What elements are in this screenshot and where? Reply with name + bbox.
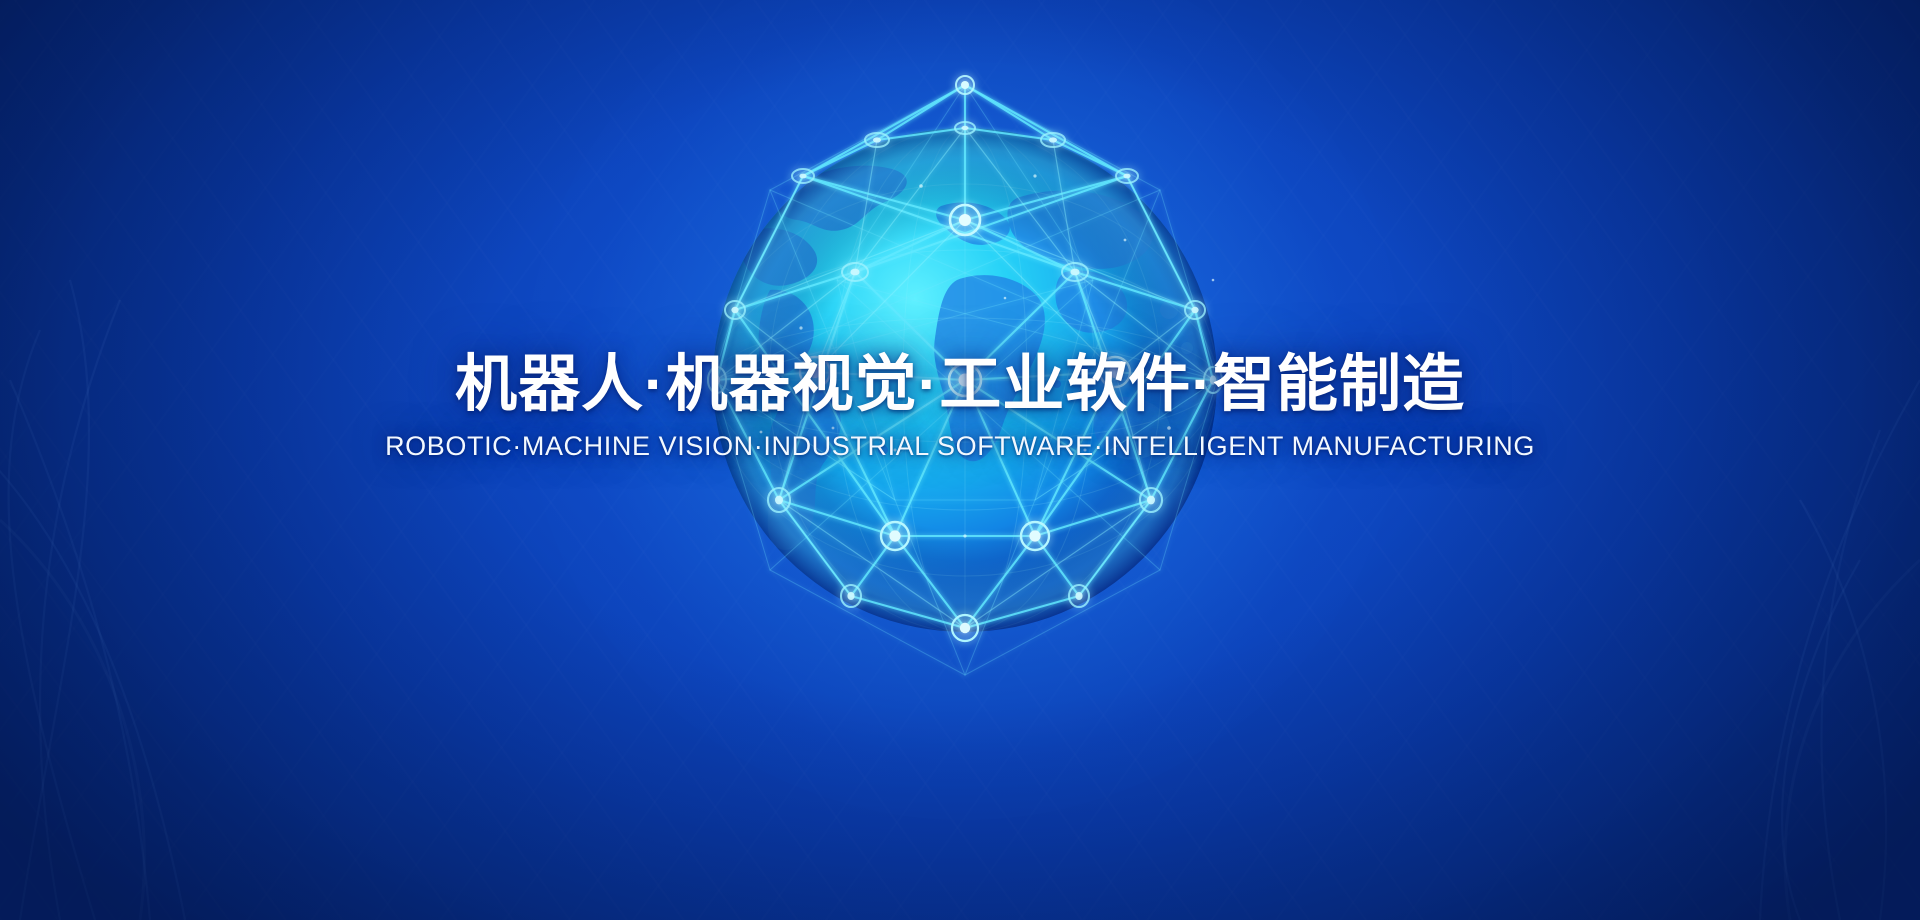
hero-copy: 机器人·机器视觉·工业软件·智能制造 ROBOTIC·MACHINE VISIO… (0, 352, 1920, 462)
hero-banner: 机器人·机器视觉·工业软件·智能制造 ROBOTIC·MACHINE VISIO… (0, 0, 1920, 920)
page-subtitle: ROBOTIC·MACHINE VISION·INDUSTRIAL SOFTWA… (0, 431, 1920, 462)
page-title: 机器人·机器视觉·工业软件·智能制造 (0, 352, 1920, 419)
